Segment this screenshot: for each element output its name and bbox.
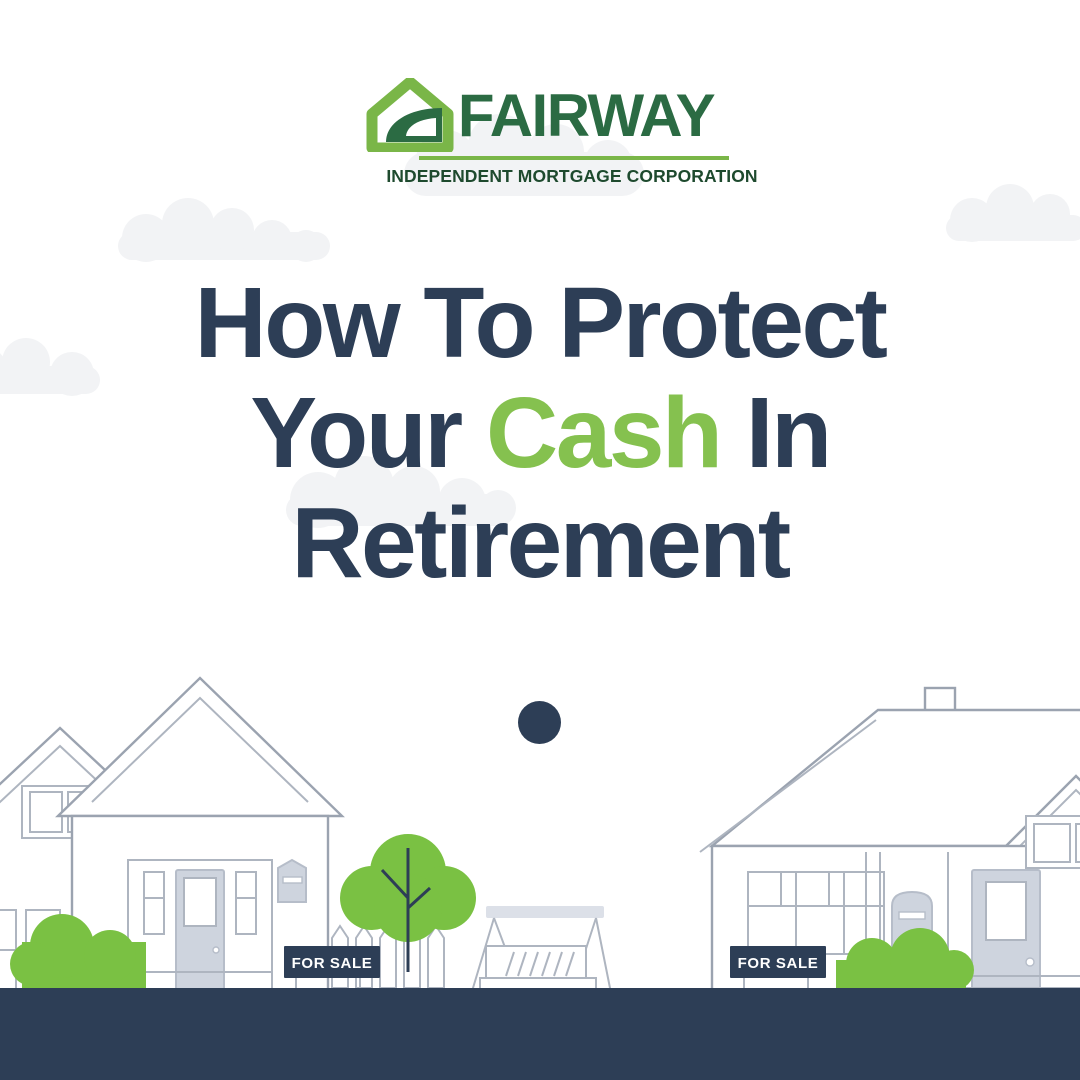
logo-tagline: INDEPENDENT MORTGAGE CORPORATION: [386, 166, 757, 187]
headline-accent-word: Cash: [486, 377, 721, 489]
headline-line-3: Retirement: [0, 488, 1080, 598]
porch-swing: [470, 906, 612, 998]
headline-line-2: Your Cash In: [0, 378, 1080, 488]
headline-line-1: How To Protect: [0, 268, 1080, 378]
neighborhood-illustration: .ln { fill:none; stroke:#9ba3b0; stroke-…: [0, 620, 1080, 1080]
headline-line-2-pre: Your: [250, 377, 486, 489]
for-sale-sign-label: FOR SALE: [292, 955, 373, 972]
cloud-icon: [946, 184, 1080, 242]
for-sale-sign-label: FOR SALE: [738, 955, 819, 972]
fairway-house-logo-icon: [366, 78, 454, 152]
logo-underline-rule: [419, 156, 729, 160]
brand-logo: FAIRWAY INDEPENDENT MORTGAGE CORPORATION: [0, 78, 1080, 187]
logo-row: FAIRWAY: [366, 78, 714, 152]
cloud-icon: [118, 198, 330, 262]
ground-bar: [0, 988, 1080, 1080]
poster-canvas: FAIRWAY INDEPENDENT MORTGAGE CORPORATION…: [0, 0, 1080, 1080]
headline-line-2-post: In: [721, 377, 830, 489]
decorative-dot: [518, 701, 561, 744]
logo-wordmark: FAIRWAY: [458, 87, 714, 144]
page-title: How To Protect Your Cash In Retirement: [0, 268, 1080, 598]
mailbox-left-icon: [278, 860, 306, 902]
